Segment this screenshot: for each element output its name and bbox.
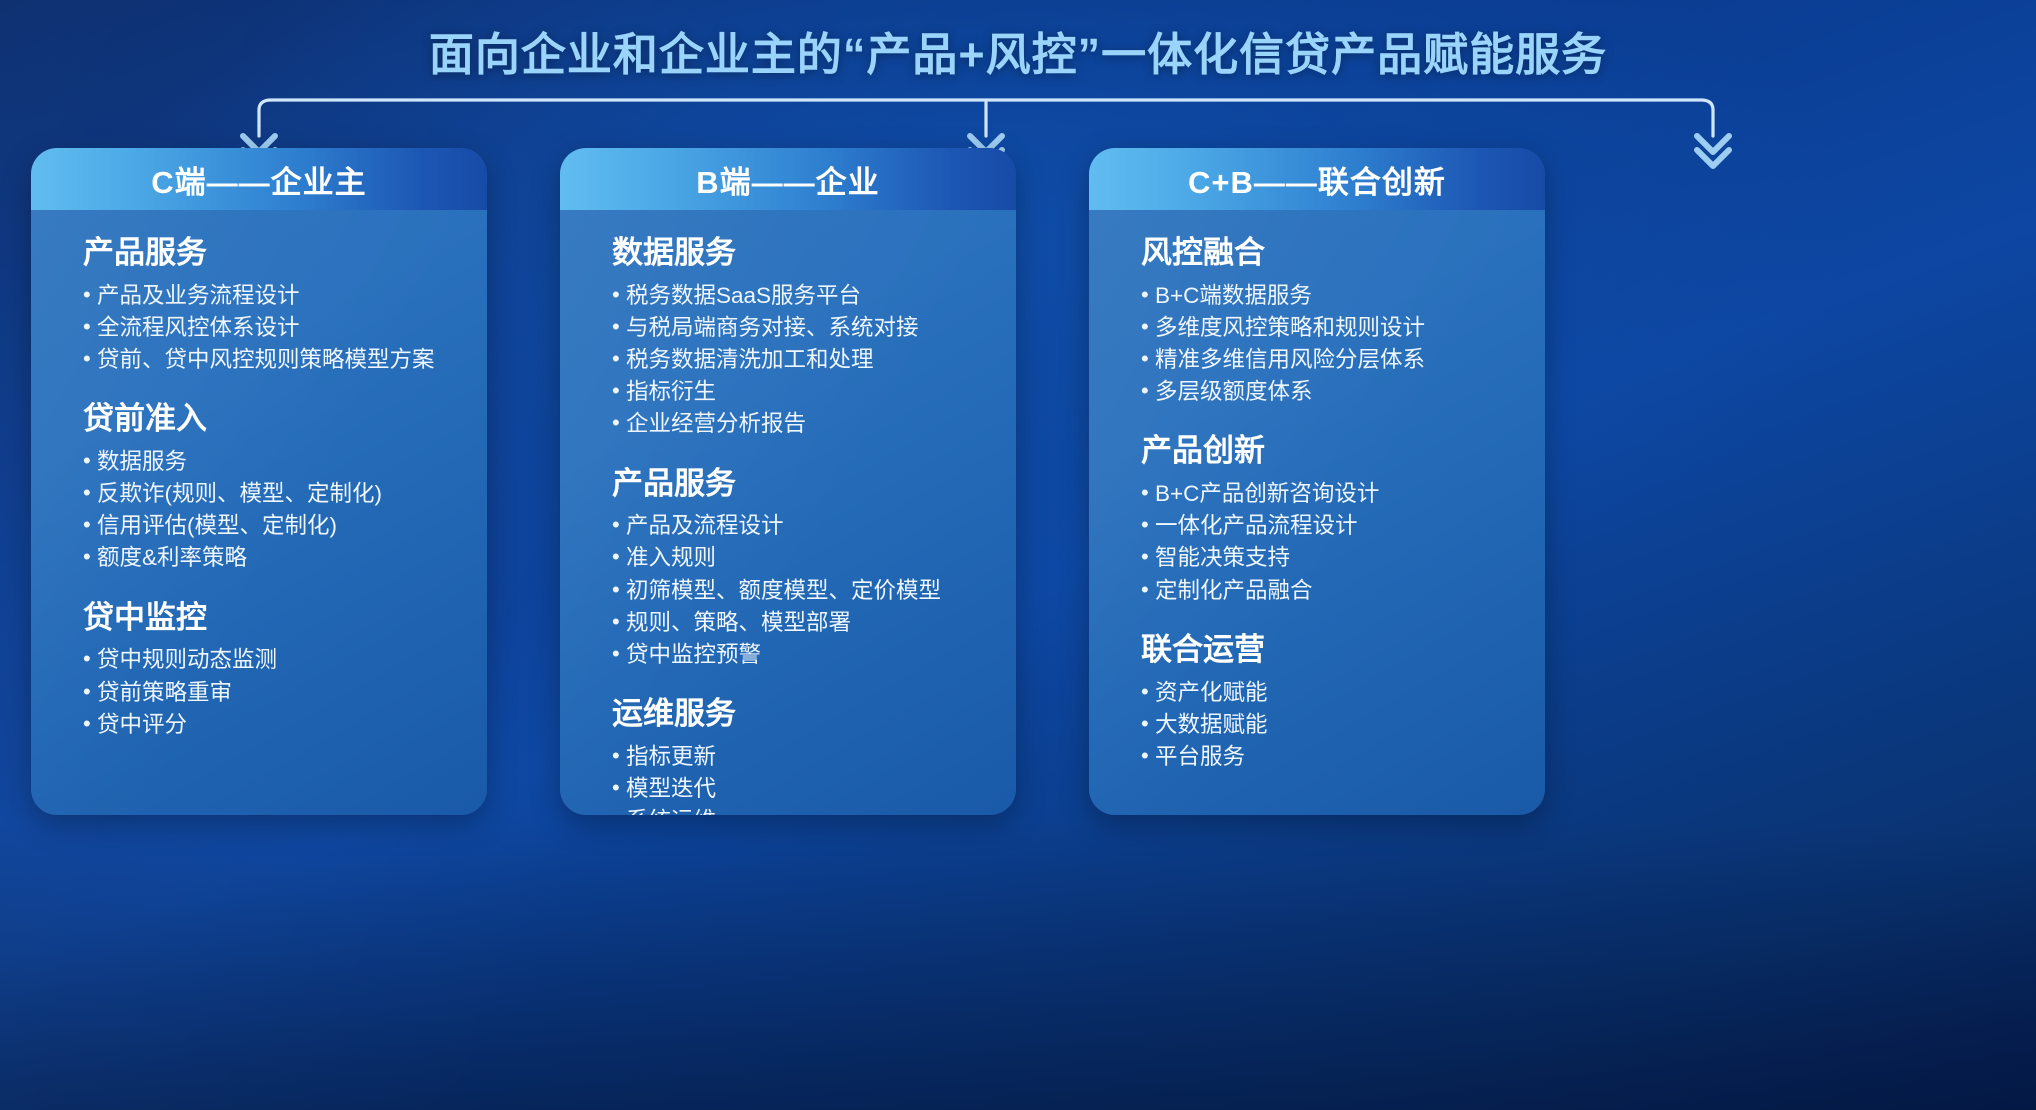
section-title: 联合运营 (1141, 633, 1515, 668)
section-block: 贷中监控 贷中规则动态监测 贷前策略重审 贷中评分 (31, 601, 487, 741)
list-item: 准入规则 (612, 542, 986, 574)
section-list: B+C端数据服务 多维度风控策略和规则设计 精准多维信用风险分层体系 多层级额度… (1141, 280, 1515, 409)
section-list: 数据服务 反欺诈(规则、模型、定制化) 信用评估(模型、定制化) 额度&利率策略 (83, 446, 457, 575)
section-title: 贷前准入 (83, 402, 457, 437)
list-item: B+C产品创新咨询设计 (1141, 478, 1515, 510)
section-block: 产品服务 产品及业务流程设计 全流程风控体系设计 贷前、贷中风控规则策略模型方案 (31, 236, 487, 376)
section-block: 数据服务 税务数据SaaS服务平台 与税局端商务对接、系统对接 税务数据清洗加工… (560, 236, 1016, 441)
column-card-c-plus-b[interactable]: C+B——联合创新 风控融合 B+C端数据服务 多维度风控策略和规则设计 精准多… (1089, 148, 1545, 815)
list-item: 税务数据SaaS服务平台 (612, 280, 986, 312)
section-list: B+C产品创新咨询设计 一体化产品流程设计 智能决策支持 定制化产品融合 (1141, 478, 1515, 607)
section-list: 税务数据SaaS服务平台 与税局端商务对接、系统对接 税务数据清洗加工和处理 指… (612, 280, 986, 441)
list-item: 初筛模型、额度模型、定价模型 (612, 575, 986, 607)
section-list: 贷中规则动态监测 贷前策略重审 贷中评分 (83, 644, 457, 741)
column-card-c-end[interactable]: C端——企业主 产品服务 产品及业务流程设计 全流程风控体系设计 贷前、贷中风控… (31, 148, 487, 815)
section-title: 风控融合 (1141, 236, 1515, 271)
section-block: 运维服务 指标更新 模型迭代 系统运维 (560, 697, 1016, 815)
list-item: 信用评估(模型、定制化) (83, 510, 457, 542)
section-block: 产品创新 B+C产品创新咨询设计 一体化产品流程设计 智能决策支持 定制化产品融… (1089, 434, 1545, 606)
list-item: 贷前策略重审 (83, 677, 457, 709)
section-list: 资产化赋能 大数据赋能 平台服务 (1141, 677, 1515, 774)
list-item: 多维度风控策略和规则设计 (1141, 312, 1515, 344)
section-block: 联合运营 资产化赋能 大数据赋能 平台服务 (1089, 633, 1545, 773)
list-item: 与税局端商务对接、系统对接 (612, 312, 986, 344)
column-header-b-end: B端——企业 (560, 148, 1016, 210)
column-body-c-end: 产品服务 产品及业务流程设计 全流程风控体系设计 贷前、贷中风控规则策略模型方案… (31, 210, 487, 815)
section-list: 产品及流程设计 准入规则 初筛模型、额度模型、定价模型 规则、策略、模型部署 贷… (612, 510, 986, 671)
double-chevron-down-icon-3 (1697, 136, 1729, 166)
list-item: 平台服务 (1141, 741, 1515, 773)
list-item: 贷中评分 (83, 709, 457, 741)
list-item: 企业经营分析报告 (612, 408, 986, 440)
column-body-b-end: 数据服务 税务数据SaaS服务平台 与税局端商务对接、系统对接 税务数据清洗加工… (560, 210, 1016, 815)
section-block: 产品服务 产品及流程设计 准入规则 初筛模型、额度模型、定价模型 规则、策略、模… (560, 467, 1016, 672)
column-card-b-end[interactable]: B端——企业 数据服务 税务数据SaaS服务平台 与税局端商务对接、系统对接 税… (560, 148, 1016, 815)
list-item: 大数据赋能 (1141, 709, 1515, 741)
section-title: 运维服务 (612, 697, 986, 732)
list-item: 智能决策支持 (1141, 542, 1515, 574)
list-item: 产品及业务流程设计 (83, 280, 457, 312)
section-title: 贷中监控 (83, 601, 457, 636)
section-block: 风控融合 B+C端数据服务 多维度风控策略和规则设计 精准多维信用风险分层体系 … (1089, 236, 1545, 408)
list-item: 额度&利率策略 (83, 542, 457, 574)
slide-stage: 面向企业和企业主的“产品+风控”一体化信贷产品赋能服务 C端——企业主 (0, 0, 2036, 1110)
section-list: 产品及业务流程设计 全流程风控体系设计 贷前、贷中风控规则策略模型方案 (83, 280, 457, 377)
section-list: 指标更新 模型迭代 系统运维 (612, 741, 986, 815)
list-item: 精准多维信用风险分层体系 (1141, 344, 1515, 376)
list-item: 指标更新 (612, 741, 986, 773)
section-title: 产品创新 (1141, 434, 1515, 469)
section-block: 贷前准入 数据服务 反欺诈(规则、模型、定制化) 信用评估(模型、定制化) 额度… (31, 402, 487, 574)
section-title: 数据服务 (612, 236, 986, 271)
list-item: 反欺诈(规则、模型、定制化) (83, 478, 457, 510)
list-item: 产品及流程设计 (612, 510, 986, 542)
list-item: 规则、策略、模型部署 (612, 607, 986, 639)
column-body-c-plus-b: 风控融合 B+C端数据服务 多维度风控策略和规则设计 精准多维信用风险分层体系 … (1089, 210, 1545, 815)
list-item: 数据服务 (83, 446, 457, 478)
list-item: 一体化产品流程设计 (1141, 510, 1515, 542)
list-item: 贷中监控预警 (612, 639, 986, 671)
page-title: 面向企业和企业主的“产品+风控”一体化信贷产品赋能服务 (0, 18, 2036, 83)
list-item: B+C端数据服务 (1141, 280, 1515, 312)
list-item: 多层级额度体系 (1141, 376, 1515, 408)
column-header-c-plus-b: C+B——联合创新 (1089, 148, 1545, 210)
list-item: 贷中规则动态监测 (83, 644, 457, 676)
section-title: 产品服务 (83, 236, 457, 271)
list-item: 全流程风控体系设计 (83, 312, 457, 344)
list-item: 系统运维 (612, 805, 986, 815)
list-item: 模型迭代 (612, 773, 986, 805)
list-item: 指标衍生 (612, 376, 986, 408)
list-item: 资产化赋能 (1141, 677, 1515, 709)
column-header-c-end: C端——企业主 (31, 148, 487, 210)
section-title: 产品服务 (612, 467, 986, 502)
list-item: 税务数据清洗加工和处理 (612, 344, 986, 376)
list-item: 定制化产品融合 (1141, 575, 1515, 607)
list-item: 贷前、贷中风控规则策略模型方案 (83, 344, 457, 376)
